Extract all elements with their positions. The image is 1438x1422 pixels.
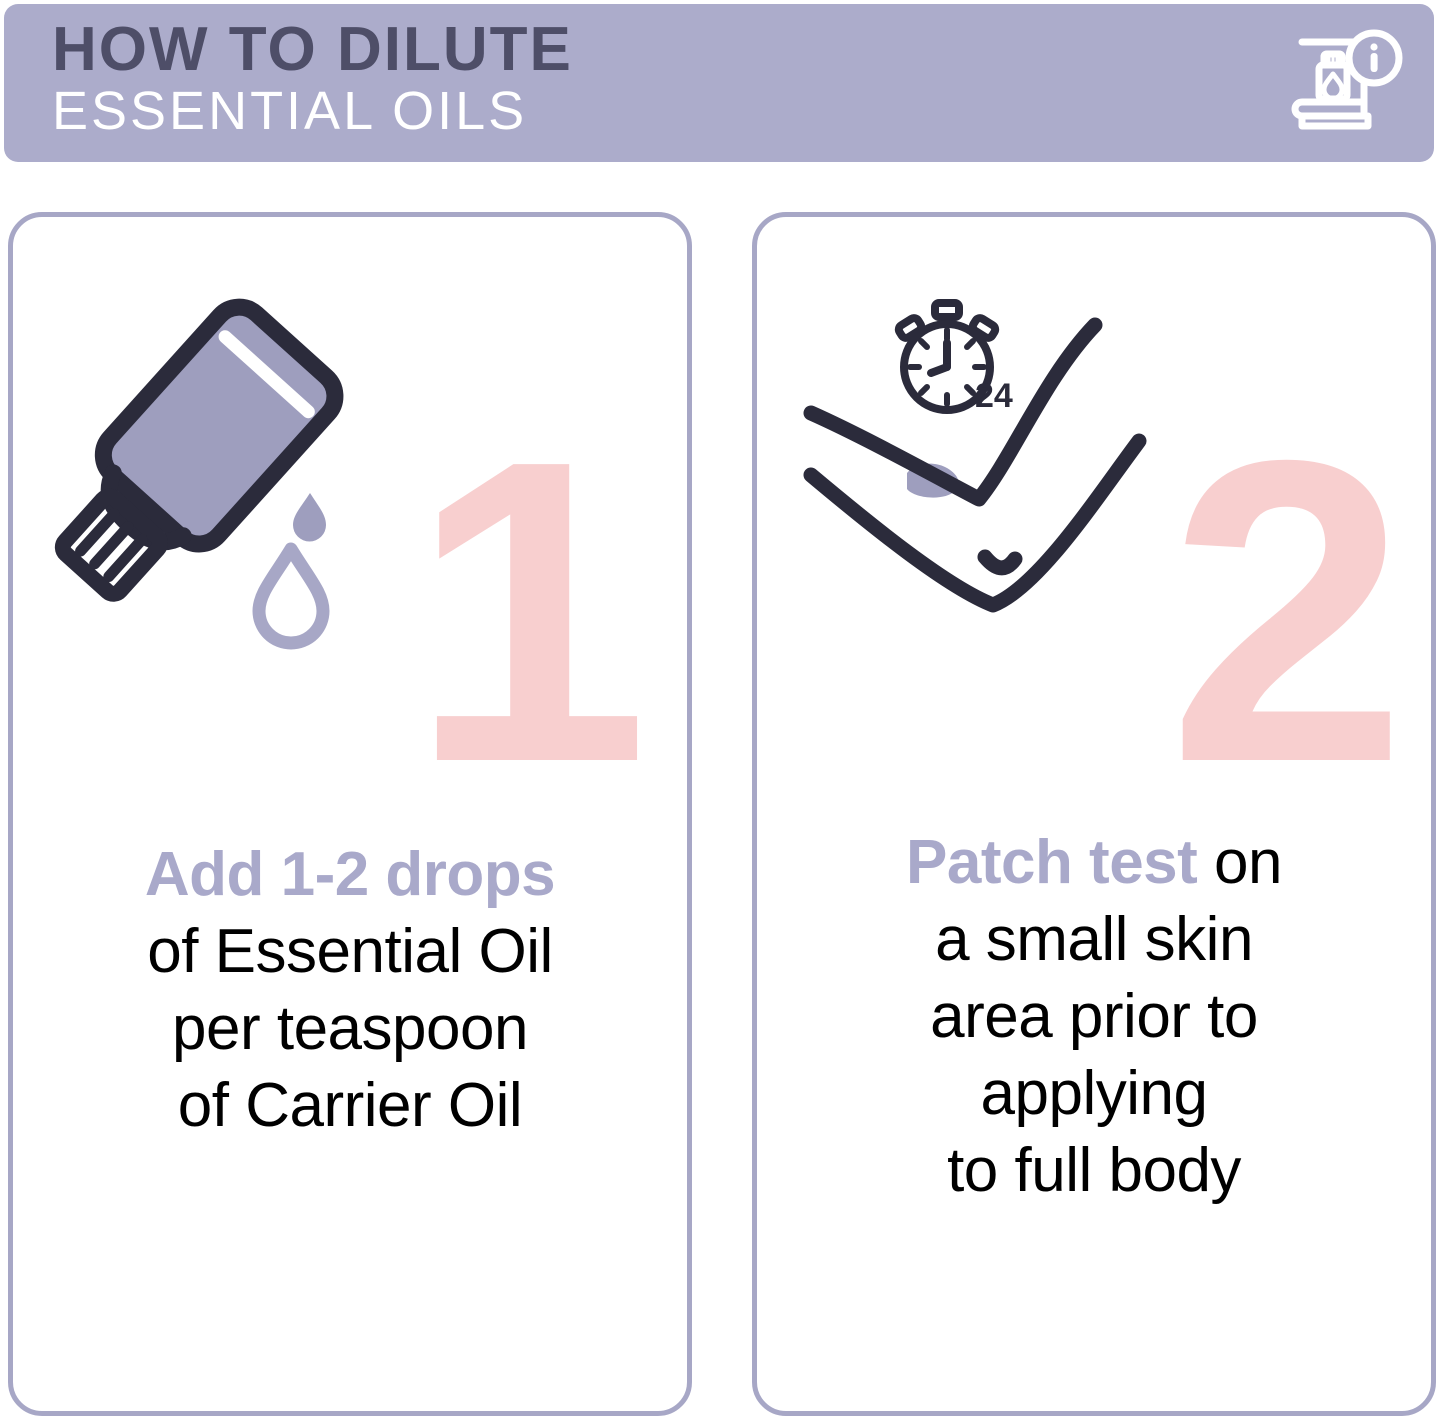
step-number-1: 1 [410, 445, 643, 780]
caption-line: of Essential Oil [31, 914, 669, 991]
caption-line: area prior to [775, 979, 1413, 1056]
header-band: HOW TO DILUTE ESSENTIAL OILS [4, 4, 1434, 162]
arm-patch-test-stopwatch-icon: 24 [787, 287, 1167, 617]
stopwatch-hours-label: 24 [975, 377, 1013, 415]
caption-line: a small skin [775, 902, 1413, 979]
card-1-caption: Add 1-2 drops of Essential Oil per teasp… [31, 837, 669, 1145]
caption-accent-row: Patch test on [775, 825, 1413, 902]
oil-dropper-bottle-icon [53, 277, 413, 677]
page-title: HOW TO DILUTE [52, 18, 573, 81]
step-card-1: 1 Add 1-2 [8, 212, 692, 1416]
caption-line: of Carrier Oil [31, 1068, 669, 1145]
caption-line: per teaspoon [31, 991, 669, 1068]
caption-accent-1: Add 1-2 drops [31, 837, 669, 914]
step-card-2: 2 [752, 212, 1436, 1416]
caption-accent-2: Patch test [906, 828, 1197, 897]
caption-line: applying [775, 1056, 1413, 1133]
caption-line: to full body [775, 1133, 1413, 1210]
step-number-2: 2 [1168, 445, 1401, 780]
caption-accent-trail: on [1197, 828, 1282, 897]
header-title-group: HOW TO DILUTE ESSENTIAL OILS [52, 18, 573, 140]
page-subtitle: ESSENTIAL OILS [52, 83, 573, 140]
card-2-caption: Patch test on a small skin area prior to… [775, 825, 1413, 1209]
oil-guide-book-info-icon [1288, 26, 1406, 138]
